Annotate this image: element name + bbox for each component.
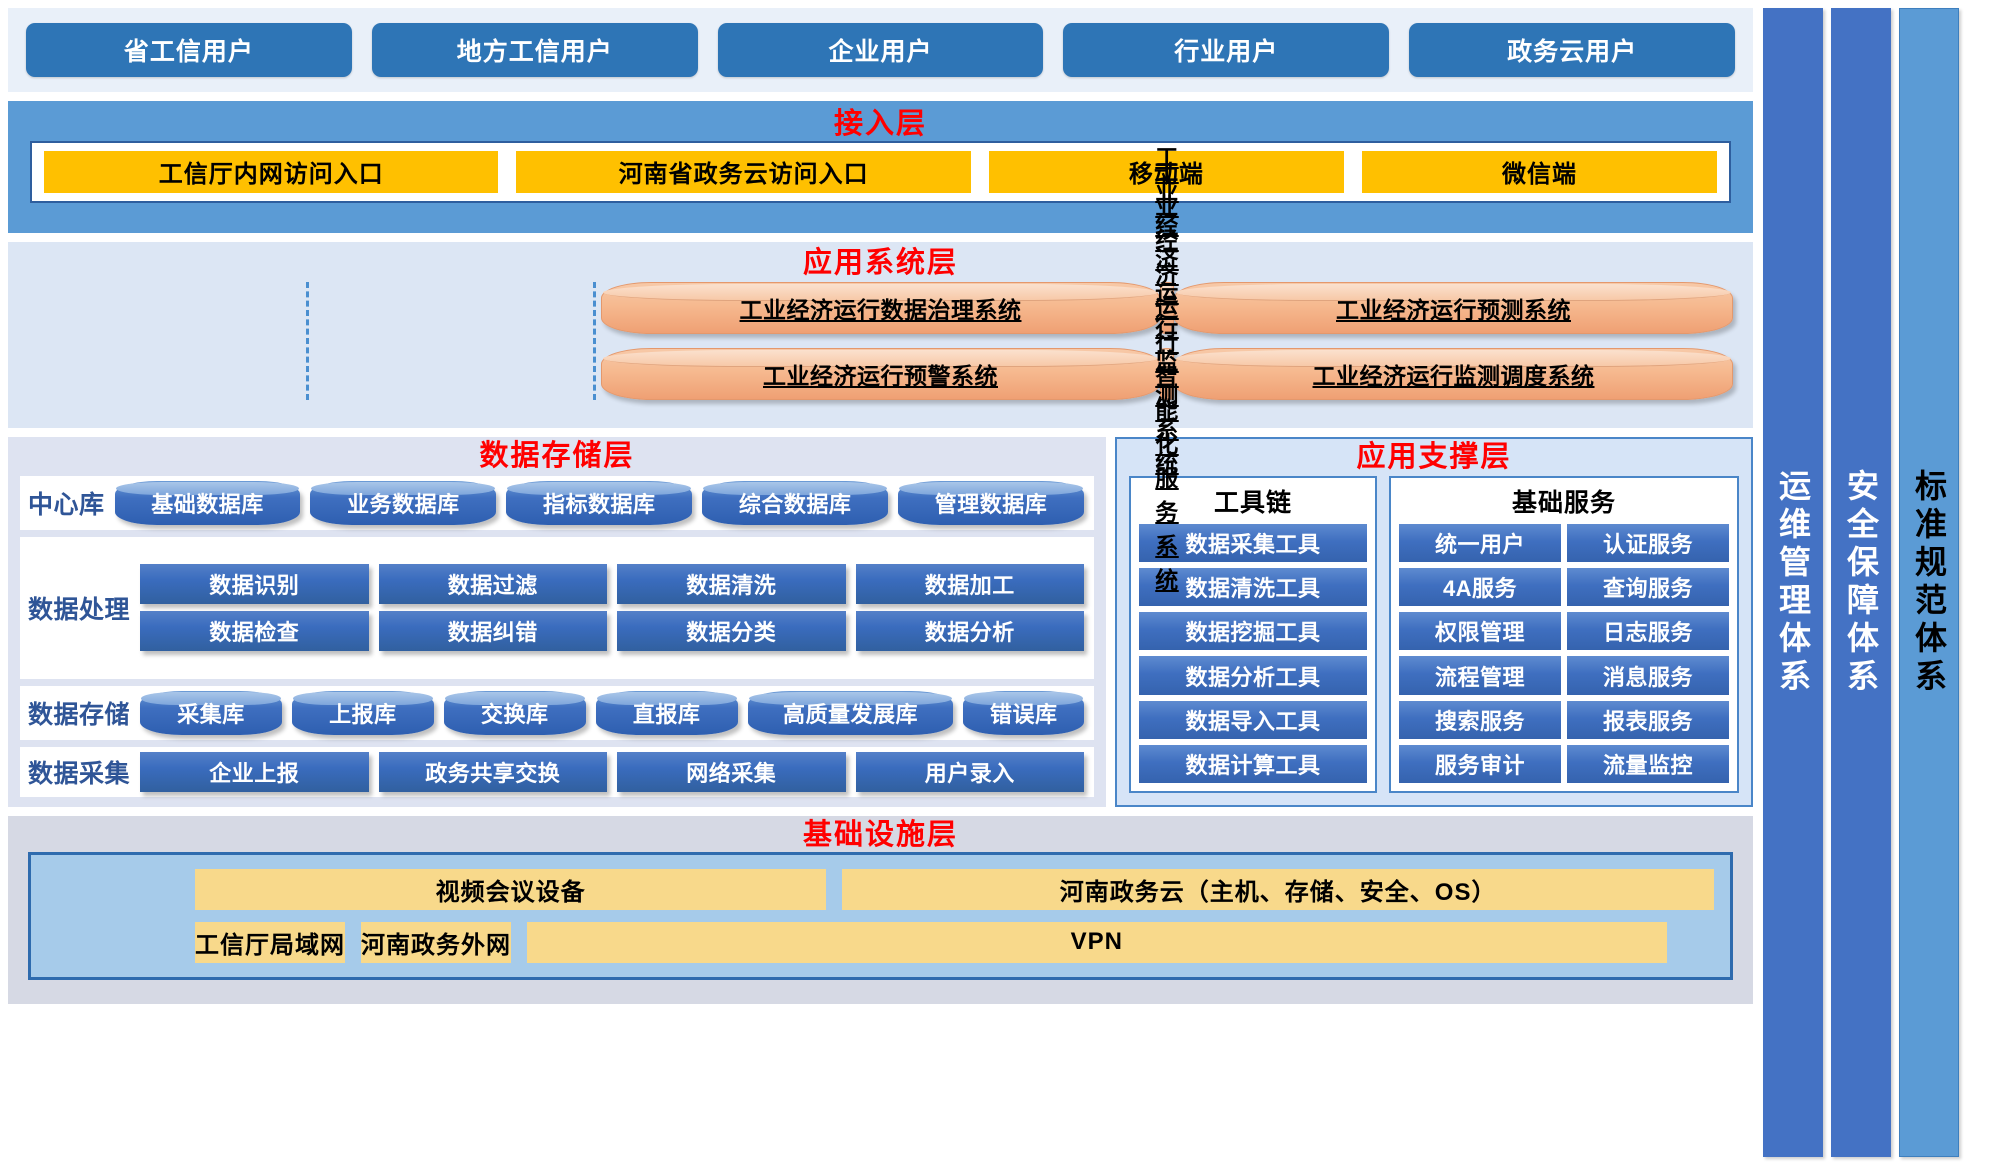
collection-label: 政务共享交换: [425, 756, 560, 788]
database-label: 管理数据库: [935, 487, 1048, 519]
base-service-item-label: 搜索服务: [1435, 704, 1525, 736]
base-service-item-label: 4A服务: [1443, 571, 1517, 603]
infrastructure-node[interactable]: 视频会议设备: [195, 869, 826, 910]
infrastructure-node[interactable]: VPN: [527, 922, 1667, 963]
storage-row-list: 中心库 基础数据库 业务数据库 指标数据库 综合数据库 管理数据库 数据处理: [20, 476, 1094, 797]
database-node[interactable]: 错误库: [963, 691, 1084, 735]
storage-row: 数据存储 采集库 上报库 交换库 直报库 高质量发展库 错误库: [20, 686, 1094, 740]
infrastructure-label: 工信厅局域网: [195, 925, 345, 960]
database-label: 高质量发展库: [783, 697, 918, 729]
toolchain-item-label: 数据分析工具: [1185, 660, 1320, 692]
base-service-item-label: 消息服务: [1603, 660, 1693, 692]
storage-row-items: 基础数据库 业务数据库 指标数据库 综合数据库 管理数据库: [115, 481, 1084, 525]
collection-node[interactable]: 企业上报: [140, 752, 369, 792]
base-service-item[interactable]: 流量监控: [1567, 745, 1729, 783]
data-storage-layer: 数据存储层 中心库 基础数据库 业务数据库 指标数据库 综合数据库 管理数据库: [8, 437, 1106, 807]
process-label: 数据分类: [686, 615, 776, 647]
access-entry[interactable]: 工信厅内网访问入口: [44, 151, 498, 193]
process-node[interactable]: 数据纠错: [379, 611, 608, 651]
sidebar-standards-specification[interactable]: 标准规范体系: [1899, 8, 1959, 1157]
database-node[interactable]: 上报库: [292, 691, 434, 735]
storage-row-label: 中心库: [28, 485, 105, 521]
application-system-node[interactable]: 工业经济运行预测系统: [1174, 282, 1733, 334]
process-label: 数据识别: [209, 568, 299, 600]
process-node[interactable]: 数据检查: [140, 611, 369, 651]
base-service-item[interactable]: 4A服务: [1399, 568, 1561, 606]
application-system-label: 工业经济运行监测调度系统: [1313, 357, 1595, 391]
storage-layer-title: 数据存储层: [20, 441, 1094, 473]
base-service-item[interactable]: 搜索服务: [1399, 701, 1561, 739]
base-service-item-label: 报表服务: [1603, 704, 1693, 736]
application-system-node[interactable]: 工业经济运行监测调度系统: [1174, 348, 1733, 400]
database-label: 综合数据库: [739, 487, 852, 519]
user-role-chip[interactable]: 企业用户: [718, 23, 1044, 77]
database-node[interactable]: 管理数据库: [898, 481, 1084, 525]
user-role-chip[interactable]: 地方工信用户: [372, 23, 698, 77]
application-support-layer: 应用支撑层 工具链 数据采集工具 数据清洗工具 数据挖掘工具 数据分析工具 数据…: [1115, 437, 1753, 807]
base-service-item-label: 流程管理: [1435, 660, 1525, 692]
storage-row-label: 数据采集: [28, 754, 130, 790]
toolchain-item-label: 数据清洗工具: [1185, 571, 1320, 603]
infrastructure-label: 视频会议设备: [436, 872, 586, 907]
collection-node[interactable]: 网络采集: [617, 752, 846, 792]
process-node[interactable]: 数据过滤: [379, 564, 608, 604]
database-label: 上报库: [329, 697, 397, 729]
application-system-label: 工业经济运行预警系统: [763, 357, 998, 391]
cross-cutting-systems: 运维管理体系 安全保障体系 标准规范体系: [1763, 8, 1959, 1157]
process-label: 数据过滤: [448, 568, 538, 600]
database-node[interactable]: 业务数据库: [310, 481, 496, 525]
access-layer-title: 接入层: [30, 109, 1731, 141]
toolchain-item-label: 数据采集工具: [1185, 527, 1320, 559]
collection-node[interactable]: 用户录入: [856, 752, 1085, 792]
user-role-label: 省工信用户: [124, 32, 254, 68]
process-node[interactable]: 数据识别: [140, 564, 369, 604]
base-service-item[interactable]: 消息服务: [1567, 656, 1729, 694]
application-system-label: 工业经济运行预测系统: [1336, 291, 1571, 325]
base-service-item[interactable]: 认证服务: [1567, 524, 1729, 562]
infrastructure-layer: 基础设施层 视频会议设备 河南政务云（主机、存储、安全、OS） 工信厅局域网 河…: [8, 816, 1753, 1004]
base-service-item-label: 流量监控: [1603, 748, 1693, 780]
collection-label: 企业上报: [209, 756, 299, 788]
base-service-card: 基础服务 统一用户 认证服务 4A服务 查询服务 权限管理 日志服务 流程管理 …: [1389, 476, 1739, 793]
storage-row-label: 数据处理: [28, 590, 130, 626]
support-columns: 工具链 数据采集工具 数据清洗工具 数据挖掘工具 数据分析工具 数据导入工具 数…: [1129, 476, 1739, 793]
database-node[interactable]: 直报库: [596, 691, 738, 735]
process-label: 数据分析: [925, 615, 1015, 647]
database-node[interactable]: 采集库: [140, 691, 282, 735]
base-service-item[interactable]: 服务审计: [1399, 745, 1561, 783]
storage-row-items: 企业上报 政务共享交换 网络采集 用户录入: [140, 752, 1084, 792]
collection-label: 网络采集: [686, 756, 776, 788]
storage-row: 数据采集 企业上报 政务共享交换 网络采集 用户录入: [20, 747, 1094, 797]
base-service-item-label: 统一用户: [1435, 527, 1525, 559]
base-service-item[interactable]: 统一用户: [1399, 524, 1561, 562]
user-role-chip[interactable]: 省工信用户: [26, 23, 352, 77]
storage-row: 中心库 基础数据库 业务数据库 指标数据库 综合数据库 管理数据库: [20, 476, 1094, 530]
base-service-item-label: 认证服务: [1603, 527, 1693, 559]
access-entry[interactable]: 河南省政务云访问入口: [516, 151, 970, 193]
base-service-item-label: 日志服务: [1603, 615, 1693, 647]
storage-row: 数据处理 数据识别 数据过滤 数据清洗 数据加工 数据检查 数据纠错: [20, 537, 1094, 679]
process-label: 数据纠错: [448, 615, 538, 647]
base-service-item[interactable]: 流程管理: [1399, 656, 1561, 694]
infrastructure-row: 工信厅局域网 河南政务外网 VPN: [47, 922, 1714, 963]
user-role-chip[interactable]: 政务云用户: [1409, 23, 1735, 77]
storage-row-items: 采集库 上报库 交换库 直报库 高质量发展库 错误库: [140, 691, 1084, 735]
toolchain-item[interactable]: 数据挖掘工具: [1139, 612, 1367, 650]
process-node[interactable]: 数据分类: [617, 611, 846, 651]
infrastructure-label: VPN: [1071, 928, 1123, 956]
toolchain-item[interactable]: 数据计算工具: [1139, 745, 1367, 783]
base-service-item-label: 权限管理: [1435, 615, 1525, 647]
collection-label: 用户录入: [925, 756, 1015, 788]
collection-node[interactable]: 政务共享交换: [379, 752, 608, 792]
access-entry[interactable]: 微信端: [1362, 151, 1717, 193]
sidebar-operations-management[interactable]: 运维管理体系: [1763, 8, 1823, 1157]
application-system-label: 工业经济运行数据治理系统: [740, 291, 1022, 325]
base-service-item[interactable]: 日志服务: [1567, 612, 1729, 650]
database-node[interactable]: 交换库: [444, 691, 586, 735]
middle-row: 数据存储层 中心库 基础数据库 业务数据库 指标数据库 综合数据库 管理数据库: [8, 437, 1753, 807]
application-system-node[interactable]: 工业经济运行预警系统: [601, 348, 1160, 400]
toolchain-item-label: 数据计算工具: [1185, 748, 1320, 780]
database-label: 指标数据库: [543, 487, 656, 519]
infrastructure-row: 视频会议设备 河南政务云（主机、存储、安全、OS）: [47, 869, 1714, 910]
application-system-label: 工业经济运行智能化服务系统: [1155, 153, 1179, 595]
base-service-item-label: 查询服务: [1603, 571, 1693, 603]
database-label: 直报库: [633, 697, 701, 729]
architecture-diagram: 省工信用户 地方工信用户 企业用户 行业用户 政务云用户 接入层 工信厅内网访问…: [0, 0, 1998, 1165]
column-divider: [593, 282, 596, 400]
user-role-label: 企业用户: [828, 32, 932, 68]
access-entry-label: 河南省政务云访问入口: [619, 154, 869, 189]
database-node[interactable]: 基础数据库: [115, 481, 301, 525]
access-entry-label: 微信端: [1502, 154, 1577, 189]
access-layer-panel: 工信厅内网访问入口 河南省政务云访问入口 移动端 微信端: [30, 141, 1731, 203]
database-label: 业务数据库: [347, 487, 460, 519]
base-service-grid: 统一用户 认证服务 4A服务 查询服务 权限管理 日志服务 流程管理 消息服务 …: [1399, 524, 1729, 783]
column-divider: [306, 282, 309, 400]
database-node[interactable]: 综合数据库: [702, 481, 888, 525]
process-node[interactable]: 数据清洗: [617, 564, 846, 604]
user-role-band: 省工信用户 地方工信用户 企业用户 行业用户 政务云用户: [8, 8, 1753, 92]
storage-row-items: 数据识别 数据过滤 数据清洗 数据加工 数据检查 数据纠错 数据分类 数据分析: [140, 564, 1084, 651]
infrastructure-panel: 视频会议设备 河南政务云（主机、存储、安全、OS） 工信厅局域网 河南政务外网 …: [28, 852, 1733, 980]
access-layer: 接入层 工信厅内网访问入口 河南省政务云访问入口 移动端 微信端: [8, 101, 1753, 233]
database-label: 采集库: [177, 697, 245, 729]
process-label: 数据加工: [925, 568, 1015, 600]
infrastructure-layer-title: 基础设施层: [28, 820, 1733, 852]
access-entry-label: 工信厅内网访问入口: [159, 154, 384, 189]
user-role-chip[interactable]: 行业用户: [1063, 23, 1389, 77]
support-layer-title: 应用支撑层: [1129, 442, 1739, 474]
database-label: 错误库: [990, 697, 1058, 729]
infrastructure-label: 河南政务云（主机、存储、安全、OS）: [1060, 872, 1497, 907]
infrastructure-node[interactable]: 河南政务外网: [361, 922, 511, 963]
application-layer-title: 应用系统层: [28, 248, 1733, 280]
process-node[interactable]: 数据分析: [856, 611, 1085, 651]
storage-row-label: 数据存储: [28, 695, 130, 731]
infrastructure-node[interactable]: 河南政务云（主机、存储、安全、OS）: [842, 869, 1714, 910]
base-service-item-label: 服务审计: [1435, 748, 1525, 780]
application-system-node[interactable]: 工业经济运行智能化服务系统: [1160, 348, 1174, 400]
infrastructure-label: 河南政务外网: [361, 925, 511, 960]
process-label: 数据检查: [209, 615, 299, 647]
storage-subrow: 数据检查 数据纠错 数据分类 数据分析: [140, 611, 1084, 651]
base-service-item[interactable]: 查询服务: [1567, 568, 1729, 606]
sidebar-label: 标准规范体系: [1906, 469, 1952, 697]
layer-stack: 省工信用户 地方工信用户 企业用户 行业用户 政务云用户 接入层 工信厅内网访问…: [8, 8, 1753, 1157]
application-system-node[interactable]: 工业经济运行数据治理系统: [601, 282, 1160, 334]
sidebar-security-assurance[interactable]: 安全保障体系: [1831, 8, 1891, 1157]
database-node[interactable]: 指标数据库: [506, 481, 692, 525]
base-service-item[interactable]: 权限管理: [1399, 612, 1561, 650]
process-label: 数据清洗: [686, 568, 776, 600]
database-label: 基础数据库: [151, 487, 264, 519]
storage-subrow: 数据识别 数据过滤 数据清洗 数据加工: [140, 564, 1084, 604]
application-system-grid: 工业经济运行数据治理系统 工业经济运行监测系统 工业经济运行预测系统 工业经济运…: [28, 280, 1733, 402]
database-label: 交换库: [481, 697, 549, 729]
toolchain-item-label: 数据导入工具: [1185, 704, 1320, 736]
user-role-label: 政务云用户: [1507, 32, 1637, 68]
application-system-layer: 应用系统层 工业经济运行数据治理系统 工业经济运行监测系统 工业经济运行预测系统…: [8, 242, 1753, 428]
base-service-item[interactable]: 报表服务: [1567, 701, 1729, 739]
database-node[interactable]: 高质量发展库: [748, 691, 954, 735]
base-service-title: 基础服务: [1399, 483, 1729, 519]
toolchain-item[interactable]: 数据导入工具: [1139, 701, 1367, 739]
user-role-label: 地方工信用户: [457, 32, 613, 68]
sidebar-label: 安全保障体系: [1838, 469, 1884, 697]
user-role-label: 行业用户: [1174, 32, 1278, 68]
toolchain-item[interactable]: 数据分析工具: [1139, 656, 1367, 694]
infrastructure-node[interactable]: 工信厅局域网: [195, 922, 345, 963]
process-node[interactable]: 数据加工: [856, 564, 1085, 604]
toolchain-item-label: 数据挖掘工具: [1185, 615, 1320, 647]
sidebar-label: 运维管理体系: [1770, 469, 1816, 697]
